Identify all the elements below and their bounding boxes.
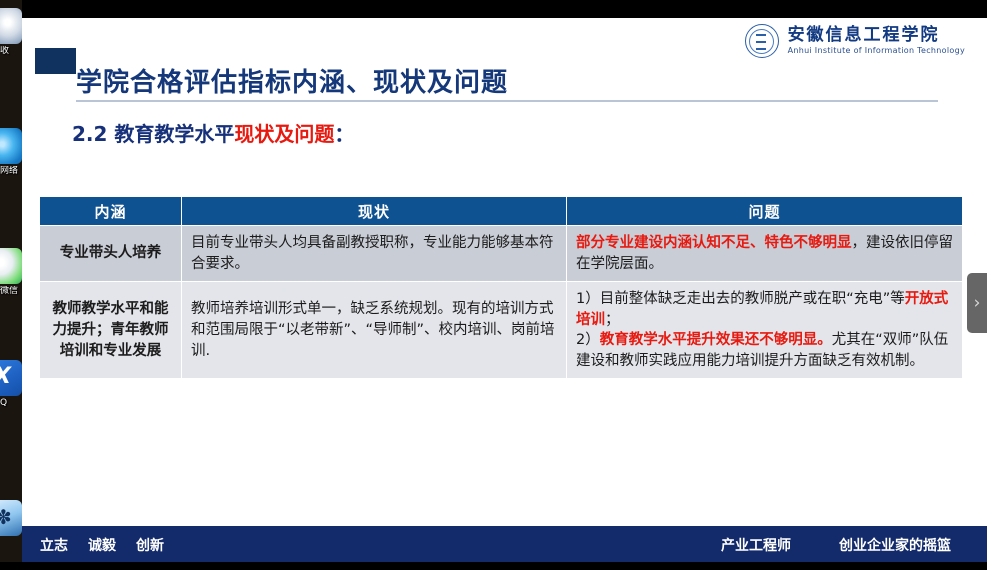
- table-row: 教师教学水平和能力提升；青年教师培训和专业发展 教师培养培训形式单一，缺乏系统规…: [40, 282, 963, 379]
- footer-tagline-2: 创业企业家的摇篮: [839, 535, 951, 555]
- problem-2-line1-tail: ；: [605, 312, 620, 328]
- column-header-connotation: 内涵: [40, 197, 182, 226]
- logo-name-en: Anhui Institute of Information Technolog…: [788, 47, 965, 55]
- title-divider: [76, 100, 938, 102]
- subtitle-suffix: ：: [334, 122, 354, 146]
- desktop-icon-label-2: 网络: [0, 166, 22, 177]
- cell-problem-2: 1）目前整体缺乏走出去的教师脱产或在职“充电”等开放式培训；2）教育教学水平提升…: [567, 282, 963, 379]
- presentation-slide: 学院合格评估指标内涵、现状及问题 2.2 教育教学水平现状及问题： 安徽信息工程…: [22, 18, 987, 562]
- page-title: 学院合格评估指标内涵、现状及问题: [76, 62, 508, 99]
- column-header-problem: 问题: [567, 197, 963, 226]
- cell-problem-1: 部分专业建设内涵认知不足、特色不够明显，建设依旧停留在学院层面。: [567, 226, 963, 282]
- footer-motto-1: 立志: [40, 535, 68, 555]
- problem-2-line2-lead: 2）: [576, 332, 600, 348]
- subtitle-highlight: 现状及问题: [234, 122, 334, 146]
- desktop-icon-label-4: Q: [0, 398, 22, 409]
- letterbox-top: [22, 0, 987, 18]
- desktop-background-strip: 收 网络 微信 Q: [0, 0, 22, 570]
- problem-2-line2-highlight: 教育教学水平提升效果还不够明显。: [600, 332, 832, 348]
- slide-footer: 立志 诚毅 创新 产业工程师 创业企业家的摇篮: [22, 526, 987, 562]
- cell-term-2: 教师教学水平和能力提升；青年教师培训和专业发展: [40, 282, 182, 379]
- logo-text-block: 安徽信息工程学院 Anhui Institute of Information …: [788, 27, 965, 55]
- cell-status-2: 教师培养培训形式单一，缺乏系统规划。现有的培训方式和范围局限于“以老带新”、“导…: [182, 282, 567, 379]
- desktop-icon-label-3: 微信: [0, 286, 22, 297]
- letterbox-bottom: [0, 562, 987, 570]
- indicator-table: 内涵 现状 问题 专业带头人培养 目前专业带头人均具备副教授职称，专业能力能够基…: [39, 196, 963, 379]
- title-accent-square: [35, 48, 76, 74]
- problem-2-line1-plain: 1）目前整体缺乏走出去的教师脱产或在职“充电”等: [576, 291, 905, 307]
- desktop-icon-1[interactable]: [0, 8, 22, 44]
- footer-motto-3: 创新: [136, 535, 164, 555]
- desktop-icon-4[interactable]: [0, 360, 22, 396]
- section-subtitle: 2.2 教育教学水平现状及问题：: [72, 118, 354, 147]
- desktop-icon-2[interactable]: [0, 128, 22, 164]
- screen: 收 网络 微信 Q 学院合格评估指标内涵、现状及问题 2.2 教育教学水平现状及…: [0, 0, 987, 570]
- cell-status-1: 目前专业带头人均具备副教授职称，专业能力能够基本符合要求。: [182, 226, 567, 282]
- desktop-icon-5[interactable]: [0, 500, 22, 536]
- university-seal-icon: [745, 24, 779, 58]
- footer-motto: 立志 诚毅 创新: [40, 535, 164, 555]
- column-header-status: 现状: [182, 197, 567, 226]
- footer-motto-2: 诚毅: [88, 535, 116, 555]
- footer-tagline-1: 产业工程师: [721, 535, 791, 555]
- subtitle-prefix: 2.2 教育教学水平: [72, 122, 234, 146]
- footer-taglines: 产业工程师 创业企业家的摇篮: [721, 535, 951, 555]
- problem-highlight-1: 部分专业建设内涵认知不足、特色不够明显: [576, 235, 852, 251]
- cell-term-1: 专业带头人培养: [40, 226, 182, 282]
- desktop-icon-3[interactable]: [0, 248, 22, 284]
- logo-name-cn: 安徽信息工程学院: [788, 27, 965, 45]
- desktop-icon-label-1: 收: [0, 46, 22, 57]
- university-logo: 安徽信息工程学院 Anhui Institute of Information …: [745, 24, 965, 58]
- next-slide-button[interactable]: ›: [967, 273, 987, 333]
- table-header-row: 内涵 现状 问题: [40, 197, 963, 226]
- table-row: 专业带头人培养 目前专业带头人均具备副教授职称，专业能力能够基本符合要求。 部分…: [40, 226, 963, 282]
